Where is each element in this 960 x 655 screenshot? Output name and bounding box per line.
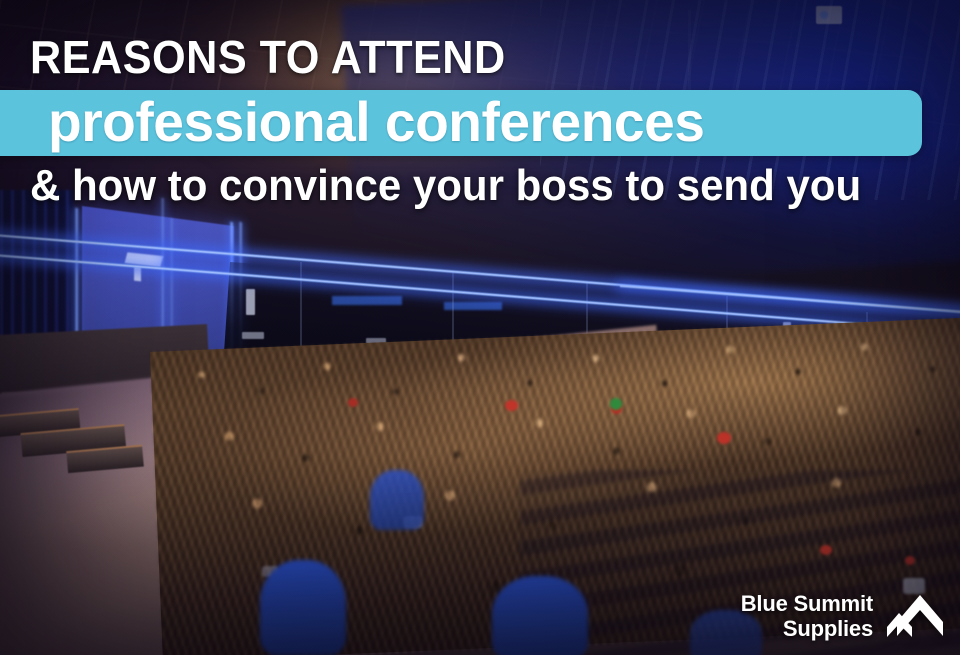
- brand-logo-line1: Blue Summit: [741, 591, 873, 616]
- brand-logo-text: Blue Summit Supplies: [741, 591, 873, 641]
- mountain-chevron-icon: [882, 591, 944, 641]
- headline-kicker: REASONS TO ATTEND: [30, 34, 506, 80]
- brand-logo: Blue Summit Supplies: [741, 591, 944, 641]
- headline-subline: & how to convince your boss to send you: [30, 162, 861, 210]
- headline-main: professional conferences: [48, 90, 704, 156]
- text-overlay: REASONS TO ATTEND professional conferenc…: [0, 0, 960, 655]
- brand-logo-line2: Supplies: [783, 616, 873, 641]
- promo-image: REASONS TO ATTEND professional conferenc…: [0, 0, 960, 655]
